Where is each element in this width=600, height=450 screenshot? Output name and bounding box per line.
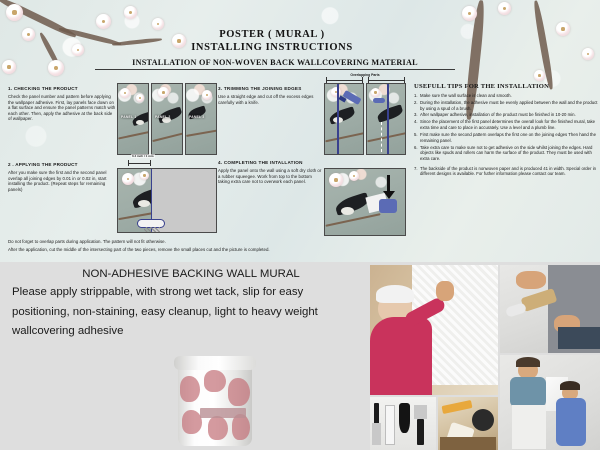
tip-item: 4.Since the placement of the first panel… xyxy=(414,119,598,130)
dimension-label: 0.4 inch / 1 mm xyxy=(131,154,155,158)
blossom-decor xyxy=(122,173,134,185)
step-1-title: 1. CHECKING THE PRODUCT xyxy=(8,86,116,92)
dimension-tick xyxy=(128,160,129,166)
panel-3-image: PANEL 3 xyxy=(185,83,217,155)
tip-number: 6. xyxy=(414,145,418,151)
bucket-body xyxy=(178,364,252,446)
poster-page: POSTER ( MURAL ) INSTALLING INSTRUCTIONS… xyxy=(0,0,600,450)
blurb-heading: NON-ADHESIVE BACKING WALL MURAL xyxy=(12,266,370,283)
step-2-title: 2 . APPLYING THE PRODUCT xyxy=(8,162,116,168)
adhesive-bucket-image xyxy=(170,352,262,448)
sheet-footer: Do not forget to overlap parts during ap… xyxy=(8,238,478,253)
bucket-pattern xyxy=(180,376,200,402)
poster-subtitle: INSTALLATION OF NON-WOVEN BACK WALLCOVER… xyxy=(95,58,455,70)
tool-blade-icon xyxy=(372,423,381,445)
blurb-line-2: positioning, non-staining, easy cleanup,… xyxy=(12,303,370,323)
blossom-decor xyxy=(72,44,84,56)
bird-artwork: PANEL 2 xyxy=(152,84,182,154)
overlap-label: Overlapping Parts xyxy=(330,73,400,77)
panel-2-image: PANEL 2 xyxy=(151,83,183,155)
tray-shape xyxy=(558,327,600,349)
trimming-diagram-a xyxy=(324,83,364,155)
hand-icon xyxy=(516,271,546,289)
hatch-area xyxy=(144,227,160,233)
dimension-tick xyxy=(150,160,151,166)
poster-title: POSTER ( MURAL ) INSTALLING INSTRUCTIONS xyxy=(112,28,432,54)
blossom-decor xyxy=(6,4,23,21)
trimming-diagram-b xyxy=(366,83,406,155)
step-1-body: Check the panel number and pattern befor… xyxy=(8,94,116,122)
overlap-line xyxy=(368,80,404,81)
tip-item: 7.The backside of the product is nonwove… xyxy=(414,166,598,177)
tip-number: 5. xyxy=(414,132,418,138)
step-4-title: 4. COMPLETING THE INTALLATION xyxy=(218,160,324,166)
child-hair xyxy=(560,381,580,390)
bucket-pattern xyxy=(204,370,226,392)
bird-belly xyxy=(136,120,144,125)
bird-belly xyxy=(138,200,150,207)
step-1: 1. CHECKING THE PRODUCT Check the panel … xyxy=(8,86,116,122)
photo-man-and-child xyxy=(500,355,600,450)
blossom-decor xyxy=(202,90,212,100)
bird-artwork xyxy=(325,169,405,235)
person-body xyxy=(370,317,432,395)
straight-edge xyxy=(387,84,389,155)
step-4-body: Apply the panel onto the wall using a so… xyxy=(218,168,324,185)
photo-roller-applying-paste xyxy=(500,265,600,353)
applying-diagram xyxy=(117,168,217,233)
tip-item: 1.Make sure the wall surface is clean an… xyxy=(414,93,598,99)
adult-shirt xyxy=(510,377,546,407)
bucket-lid xyxy=(174,356,256,370)
panel-3-label: PANEL 3 xyxy=(189,115,204,119)
footer-line-1: Do not forget to overlap parts during ap… xyxy=(8,238,478,246)
bucket-top xyxy=(472,409,494,431)
blossom-decor xyxy=(124,6,137,19)
tip-text: Make sure the wall surface is clean and … xyxy=(420,93,512,98)
step-3-body: Use a straight edge and cut off the exce… xyxy=(218,94,322,105)
smoother-icon xyxy=(385,405,395,445)
bird-belly xyxy=(341,207,354,215)
photo-tool-set xyxy=(370,397,436,450)
bird-body xyxy=(328,106,356,124)
bird-artwork: PANEL 3 xyxy=(186,84,216,154)
blossom-decor xyxy=(349,171,359,181)
tips-title: USEFULL TIPS FOR THE INSTALLATION xyxy=(414,83,598,90)
arrow-down-icon xyxy=(383,191,395,199)
completing-diagram xyxy=(324,168,406,236)
blossom-decor xyxy=(22,28,35,41)
child-shirt xyxy=(556,398,586,446)
step-2-body: After you make sure the first and the se… xyxy=(8,170,116,192)
tip-item: 3.After wallpaper adhesive, installation… xyxy=(414,112,598,118)
blossom-decor xyxy=(120,88,130,98)
tips-list: 1.Make sure the wall surface is clean an… xyxy=(414,93,598,177)
bucket-pattern xyxy=(208,416,228,440)
blurb-line-3: wallcovering adhesive xyxy=(12,322,370,342)
tip-text: Since the placement of the first panel d… xyxy=(420,119,595,130)
adult-hair xyxy=(516,357,540,367)
blossom-decor xyxy=(329,173,343,187)
twig xyxy=(325,132,364,143)
blossom-decor xyxy=(556,22,570,36)
tip-item: 2.During the installation, the adhesive … xyxy=(414,100,598,111)
twig xyxy=(186,129,217,137)
title-line-1: POSTER ( MURAL ) xyxy=(112,28,432,41)
bird-artwork xyxy=(367,84,405,154)
putty-blade-icon xyxy=(414,405,427,419)
tip-item: 5.First make sure the second pattern ove… xyxy=(414,132,598,143)
step-3: 3. TRIMMING THE JOINING EDGES Use a stra… xyxy=(218,86,322,105)
blossom-decor xyxy=(48,60,64,76)
step-3-title: 3. TRIMMING THE JOINING EDGES xyxy=(218,86,322,92)
blossom-decor xyxy=(371,88,380,97)
bird-body xyxy=(376,104,404,122)
step-2: 2 . APPLYING THE PRODUCT After you make … xyxy=(8,162,116,192)
bird-artwork xyxy=(118,169,216,232)
adult-trousers xyxy=(512,405,546,449)
step-4: 4. COMPLETING THE INTALLATION Apply the … xyxy=(218,160,324,185)
overlap-line xyxy=(326,80,362,81)
instruction-sheet: POSTER ( MURAL ) INSTALLING INSTRUCTIONS… xyxy=(0,0,600,262)
tip-text: After wallpaper adhesive, installation o… xyxy=(420,112,576,117)
bucket-pattern xyxy=(228,378,250,406)
twig xyxy=(152,132,183,142)
twig xyxy=(118,130,149,139)
bird-artwork: PANEL 1 xyxy=(118,84,148,154)
bucket-pattern xyxy=(182,410,202,434)
blossom-decor xyxy=(158,87,169,98)
photo-materials-bench xyxy=(438,397,498,450)
tip-text: The backside of the product is nonwoven … xyxy=(420,166,596,177)
panel-1-image: PANEL 1 xyxy=(117,83,149,155)
title-line-2: INSTALLING INSTRUCTIONS xyxy=(112,41,432,54)
blossom-decor xyxy=(2,60,16,74)
tips-section: USEFULL TIPS FOR THE INSTALLATION 1.Make… xyxy=(414,83,598,178)
tip-number: 7. xyxy=(414,166,418,172)
tip-number: 4. xyxy=(414,119,418,125)
tip-number: 2. xyxy=(414,100,418,106)
blossom-decor xyxy=(140,171,149,180)
tip-item: 6.Take extra care to make sure not to ge… xyxy=(414,145,598,162)
tip-number: 1. xyxy=(414,93,418,99)
product-blurb: NON-ADHESIVE BACKING WALL MURAL Please a… xyxy=(12,266,370,342)
cap-icon xyxy=(376,285,414,303)
handle-icon xyxy=(373,98,385,103)
photo-woman-applying-mural xyxy=(370,265,498,395)
straight-edge xyxy=(337,84,339,155)
cut-line xyxy=(381,122,382,152)
tip-number: 3. xyxy=(414,112,418,118)
hand-icon xyxy=(436,281,454,301)
bucket-label xyxy=(200,408,246,418)
blurb-line-1: Please apply strippable, with strong wet… xyxy=(12,283,370,303)
tool-handle-icon xyxy=(374,403,379,425)
footer-line-2: After the application, cut the middle of… xyxy=(8,246,478,254)
blossom-decor xyxy=(462,6,477,21)
blossom-decor xyxy=(136,94,144,102)
blossom-decor xyxy=(582,48,594,60)
panel-1-label: PANEL 1 xyxy=(121,115,136,119)
bird-artwork xyxy=(325,84,363,154)
blossom-decor xyxy=(498,2,511,15)
blossom-decor xyxy=(96,14,111,29)
bench-board xyxy=(440,437,496,450)
panel-2-label: PANEL 2 xyxy=(155,115,170,119)
tip-text: First make sure the second pattern overl… xyxy=(420,132,596,143)
twig xyxy=(325,213,380,227)
dimension-line xyxy=(128,163,150,164)
tip-text: Take extra care to make sure not to get … xyxy=(420,145,592,161)
blossom-decor xyxy=(534,70,545,81)
squeegee-icon xyxy=(379,199,397,213)
putty-handle-icon xyxy=(417,419,424,445)
scraper-icon xyxy=(399,403,410,433)
tip-text: During the installation, the adhesive mu… xyxy=(420,100,597,111)
